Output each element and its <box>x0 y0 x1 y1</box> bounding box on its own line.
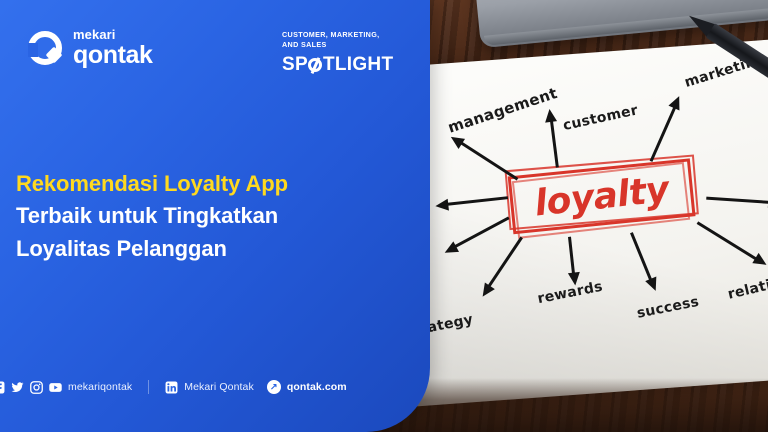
mindmap-word: success <box>635 294 700 322</box>
spotlight-kicker-line1: CUSTOMER, MARKETING, <box>282 30 393 40</box>
mindmap-arrow <box>451 138 517 180</box>
website-label: qontak.com <box>287 381 347 393</box>
social-handles-group[interactable]: mekariqontak <box>0 381 132 394</box>
external-link-icon[interactable]: ↗ <box>267 380 281 394</box>
footer-social-bar: mekariqontak Mekari Qontak ↗ qontak.com <box>0 380 347 394</box>
blue-content-panel: mekari qontak CUSTOMER, MARKETING, AND S… <box>0 0 430 432</box>
mindmap-word: management <box>446 84 560 137</box>
headline-line-1: Rekomendasi Loyalty App <box>16 168 356 200</box>
social-handle-label: mekariqontak <box>68 381 132 393</box>
spotlight-title-part1: SP <box>282 54 308 76</box>
mindmap-arrow <box>549 110 556 168</box>
mindmap-arrow <box>484 238 523 296</box>
facebook-icon[interactable] <box>0 381 5 394</box>
linkedin-group[interactable]: Mekari Qontak <box>165 381 254 394</box>
logo-mekari-text: mekari <box>73 28 153 41</box>
qontak-circle-logo-icon <box>28 31 62 65</box>
mindmap-word: relations <box>726 271 768 303</box>
youtube-icon[interactable] <box>49 381 62 394</box>
spotlight-banner: loyalty managementcustomermarketingonbty… <box>0 0 768 432</box>
twitter-icon[interactable] <box>11 381 24 394</box>
mindmap-diagram: loyalty managementcustomermarketingonbty… <box>380 37 768 408</box>
linkedin-icon[interactable] <box>165 381 178 394</box>
website-group[interactable]: ↗ qontak.com <box>267 380 347 394</box>
spotlight-badge: CUSTOMER, MARKETING, AND SALES SP TLIGHT <box>282 30 393 76</box>
footer-divider <box>148 380 149 394</box>
spotlight-title-part2: TLIGHT <box>323 54 393 76</box>
headline-line-3: Loyalitas Pelanggan <box>16 233 356 265</box>
mindmap-arrow <box>436 199 508 207</box>
mindmap-arrow <box>633 232 656 289</box>
mindmap-arrow <box>446 219 509 253</box>
page-title: Rekomendasi Loyalty App Terbaik untuk Ti… <box>16 168 356 265</box>
spotlight-title: SP TLIGHT <box>282 54 393 76</box>
mindmap-arrow <box>698 221 766 263</box>
headline-line-2: Terbaik untuk Tingkatkan <box>16 200 356 232</box>
mindmap-arrow <box>650 97 678 161</box>
mekari-qontak-logo[interactable]: mekari qontak <box>28 28 153 68</box>
linkedin-handle-label: Mekari Qontak <box>184 381 254 393</box>
mindmap-arrow <box>706 197 768 202</box>
spotlight-o-icon <box>308 58 322 72</box>
loyalty-center-box: loyalty <box>508 158 696 234</box>
instagram-icon[interactable] <box>30 381 43 394</box>
mindmap-arrow <box>571 237 576 285</box>
spotlight-kicker-line2: AND SALES <box>282 40 393 50</box>
mindmap-word: customer <box>562 102 640 134</box>
logo-qontak-text: qontak <box>73 43 153 68</box>
